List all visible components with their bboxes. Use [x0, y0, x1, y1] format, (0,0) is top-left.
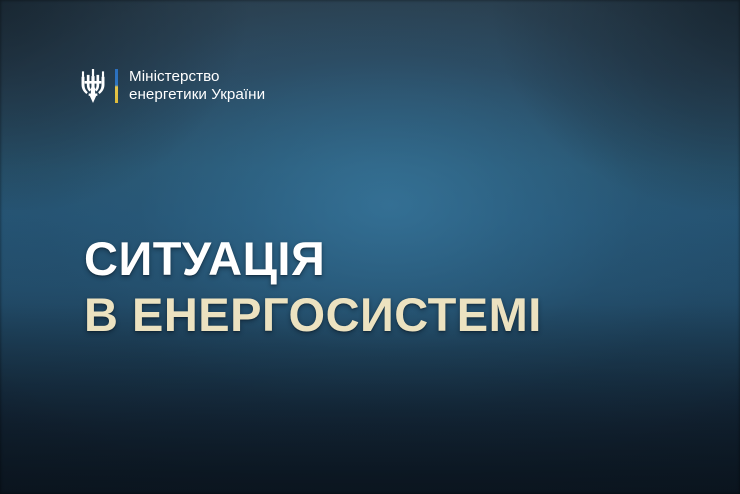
page-title-line-2: В ЕНЕРГОСИСТЕМІ	[84, 287, 542, 343]
ministry-logo-line-1: Міністерство	[129, 68, 265, 86]
flag-divider-bar	[115, 69, 118, 103]
ministry-logo-text: Міністерство енергетики України	[129, 68, 265, 105]
page-title-line-1: СИТУАЦІЯ	[84, 231, 542, 287]
ukrainian-trident-icon	[81, 69, 105, 103]
ministry-logo-line-2: енергетики України	[129, 86, 265, 104]
ministry-logo: Міністерство енергетики України	[81, 68, 265, 105]
slide-canvas: Міністерство енергетики України СИТУАЦІЯ…	[0, 0, 740, 494]
page-title: СИТУАЦІЯ В ЕНЕРГОСИСТЕМІ	[84, 231, 542, 343]
